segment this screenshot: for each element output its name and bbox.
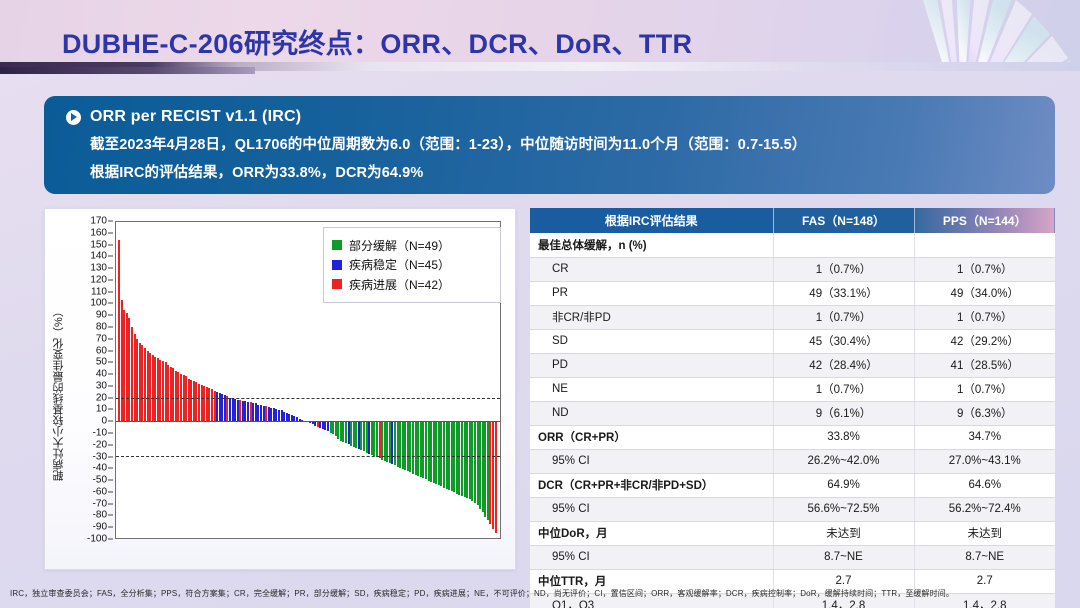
table-row: DCR（CR+PR+非CR/非PD+SD）64.9%64.6% — [530, 473, 1055, 497]
y-tick-mark — [108, 350, 113, 351]
chart-legend: 部分缓解（N=49）疾病稳定（N=45）疾病进展（N=42） — [323, 227, 501, 303]
y-tick-label: -20 — [93, 439, 107, 450]
legend-item-partial_response: 部分缓解（N=49） — [332, 237, 492, 254]
y-tick-label: 40 — [96, 369, 107, 380]
table-cell-label: SD — [530, 329, 773, 353]
table-cell-label: PR — [530, 281, 773, 305]
table-row: PR49（33.1%）49（34.0%） — [530, 281, 1055, 305]
y-tick-label: -40 — [93, 463, 107, 474]
table-cell-pps: 1（0.7%） — [914, 257, 1055, 281]
abbreviations-footnote: IRC，独立审查委员会；FAS，全分析集；PPS，符合方案集；CR，完全缓解；P… — [10, 588, 1072, 599]
y-tick-label: 80 — [96, 322, 107, 333]
table-cell-fas: 42（28.4%） — [773, 353, 914, 377]
y-tick-mark — [108, 221, 113, 222]
irc-results-table: 根据IRC评估结果 FAS（N=148） PPS（N=144） 最佳总体缓解，n… — [530, 208, 1055, 608]
y-tick-mark — [108, 256, 113, 257]
table-row: 95% CI56.6%~72.5%56.2%~72.4% — [530, 497, 1055, 521]
callout-heading: ORR per RECIST v1.1 (IRC) — [90, 108, 301, 126]
y-tick-label: 150 — [90, 239, 107, 250]
y-tick-label: 110 — [91, 286, 107, 297]
decorative-fan-burst-icon — [870, 0, 1080, 62]
y-tick-label: -30 — [93, 451, 107, 462]
y-tick-mark — [108, 480, 113, 481]
y-tick-label: -60 — [93, 486, 107, 497]
table-row: ORR（CR+PR）33.8%34.7% — [530, 425, 1055, 449]
chart-y-axis-ticks: 1701601501401301201101009080706050403020… — [71, 221, 113, 539]
y-tick-mark — [108, 244, 113, 245]
table-cell-label: 95% CI — [530, 497, 773, 521]
y-tick-mark — [108, 315, 113, 316]
y-tick-mark — [108, 385, 113, 386]
y-tick-mark — [108, 232, 113, 233]
y-tick-label: 130 — [90, 263, 107, 274]
table-cell-fas: 56.6%~72.5% — [773, 497, 914, 521]
banner-divider-accent — [0, 67, 255, 74]
table-cell-label: 95% CI — [530, 449, 773, 473]
legend-color-swatch — [332, 240, 342, 250]
y-tick-label: -70 — [93, 498, 107, 509]
legend-item-stable_disease: 疾病稳定（N=45） — [332, 256, 492, 273]
y-tick-mark — [108, 515, 113, 516]
legend-item-label: 疾病进展（N=42） — [349, 276, 450, 293]
table-cell-label: 95% CI — [530, 545, 773, 569]
table-header-fas: FAS（N=148） — [773, 208, 914, 233]
table-cell-fas: 45（30.4%） — [773, 329, 914, 353]
legend-color-swatch — [332, 279, 342, 289]
y-tick-mark — [108, 527, 113, 528]
y-tick-mark — [108, 503, 113, 504]
table-cell-pps: 49（34.0%） — [914, 281, 1055, 305]
reference-line-20 — [116, 398, 500, 399]
y-tick-mark — [108, 397, 113, 398]
legend-item-label: 疾病稳定（N=45） — [349, 256, 450, 273]
table-cell-label: 非CR/非PD — [530, 305, 773, 329]
table-row: 非CR/非PD1（0.7%）1（0.7%） — [530, 305, 1055, 329]
table-cell-fas — [773, 233, 914, 257]
table-cell-pps: 1（0.7%） — [914, 377, 1055, 401]
y-tick-mark — [108, 444, 113, 445]
y-tick-mark — [108, 303, 113, 304]
table-cell-label: ORR（CR+PR） — [530, 425, 773, 449]
y-tick-label: 20 — [96, 392, 107, 403]
y-tick-mark — [108, 291, 113, 292]
table-cell-fas: 33.8% — [773, 425, 914, 449]
table-cell-label: 中位DoR，月 — [530, 521, 773, 545]
callout-line-3: 根据IRC的评估结果，ORR为33.8%，DCR为64.9% — [90, 161, 1039, 182]
table-cell-fas: 26.2%~42.0% — [773, 449, 914, 473]
table-cell-pps: 41（28.5%） — [914, 353, 1055, 377]
y-tick-label: 160 — [90, 227, 107, 238]
y-tick-mark — [108, 279, 113, 280]
page-title: DUBHE-C-206研究终点：ORR、DCR、DoR、TTR — [62, 22, 692, 61]
y-tick-label: -50 — [93, 475, 107, 486]
y-tick-label: 0 — [101, 416, 107, 427]
y-tick-label: -80 — [93, 510, 107, 521]
y-tick-label: 10 — [96, 404, 107, 415]
y-tick-mark — [108, 421, 113, 422]
table-row: PD42（28.4%）41（28.5%） — [530, 353, 1055, 377]
y-tick-label: 50 — [96, 357, 107, 368]
y-tick-label: 70 — [96, 333, 107, 344]
table-cell-fas: 49（33.1%） — [773, 281, 914, 305]
table-cell-pps: 未达到 — [914, 521, 1055, 545]
y-tick-mark — [108, 468, 113, 469]
y-tick-label: 60 — [96, 345, 107, 356]
table-row: 95% CI8.7~NE8.7~NE — [530, 545, 1055, 569]
table-cell-pps: 64.6% — [914, 473, 1055, 497]
y-tick-label: -100 — [87, 534, 107, 545]
table-cell-fas: 9（6.1%） — [773, 401, 914, 425]
results-table-wrapper: 根据IRC评估结果 FAS（N=148） PPS（N=144） 最佳总体缓解，n… — [530, 208, 1055, 608]
reference-line--30 — [116, 456, 500, 457]
table-body: 最佳总体缓解，n (%)CR1（0.7%）1（0.7%）PR49（33.1%）4… — [530, 233, 1055, 608]
table-cell-fas: 64.9% — [773, 473, 914, 497]
table-cell-label: ND — [530, 401, 773, 425]
table-cell-fas: 1（0.7%） — [773, 305, 914, 329]
y-tick-mark — [108, 539, 113, 540]
y-tick-mark — [108, 327, 113, 328]
table-cell-pps: 34.7% — [914, 425, 1055, 449]
y-tick-mark — [108, 374, 113, 375]
legend-color-swatch — [332, 260, 342, 270]
callout-heading-row: ORR per RECIST v1.1 (IRC) — [66, 108, 1039, 126]
table-row: 最佳总体缓解，n (%) — [530, 233, 1055, 257]
y-tick-mark — [108, 456, 113, 457]
y-tick-label: 120 — [90, 274, 107, 285]
table-cell-pps: 42（29.2%） — [914, 329, 1055, 353]
table-cell-fas: 8.7~NE — [773, 545, 914, 569]
table-cell-fas: 1（0.7%） — [773, 377, 914, 401]
table-cell-pps: 56.2%~72.4% — [914, 497, 1055, 521]
y-tick-mark — [108, 268, 113, 269]
zero-baseline — [116, 421, 500, 422]
table-cell-label: PD — [530, 353, 773, 377]
table-cell-pps: 8.7~NE — [914, 545, 1055, 569]
y-tick-label: -10 — [93, 428, 107, 439]
table-cell-pps: 27.0%~43.1% — [914, 449, 1055, 473]
y-tick-mark — [108, 491, 113, 492]
y-tick-mark — [108, 409, 113, 410]
table-cell-label: NE — [530, 377, 773, 401]
table-row: SD45（30.4%）42（29.2%） — [530, 329, 1055, 353]
table-cell-pps: 9（6.3%） — [914, 401, 1055, 425]
table-row: NE1（0.7%）1（0.7%） — [530, 377, 1055, 401]
table-cell-label: DCR（CR+PR+非CR/非PD+SD） — [530, 473, 773, 497]
waterfall-chart-panel: 靶病灶大小较基线的最佳变化（%） 17016015014013012011010… — [44, 208, 516, 570]
y-tick-mark — [108, 433, 113, 434]
legend-item-progressive_disease: 疾病进展（N=42） — [332, 276, 492, 293]
y-tick-label: 170 — [90, 216, 107, 227]
table-cell-label: 最佳总体缓解，n (%) — [530, 233, 773, 257]
table-cell-pps — [914, 233, 1055, 257]
table-row: CR1（0.7%）1（0.7%） — [530, 257, 1055, 281]
y-tick-label: 30 — [96, 380, 107, 391]
callout-line-2: 截至2023年4月28日，QL1706的中位周期数为6.0（范围：1-23），中… — [90, 133, 1039, 154]
chart-y-axis-label: 靶病灶大小较基线的最佳变化（%） — [49, 269, 69, 519]
table-row: 95% CI26.2%~42.0%27.0%~43.1% — [530, 449, 1055, 473]
summary-callout-box: ORR per RECIST v1.1 (IRC) 截至2023年4月28日，Q… — [44, 96, 1055, 194]
y-tick-label: 100 — [90, 298, 107, 309]
table-header-criteria: 根据IRC评估结果 — [530, 208, 773, 233]
slide-header-banner: DUBHE-C-206研究终点：ORR、DCR、DoR、TTR — [0, 0, 1080, 62]
table-cell-fas: 1（0.7%） — [773, 257, 914, 281]
table-header-row: 根据IRC评估结果 FAS（N=148） PPS（N=144） — [530, 208, 1055, 233]
table-header-pps: PPS（N=144） — [914, 208, 1055, 233]
legend-item-label: 部分缓解（N=49） — [349, 237, 450, 254]
table-row: 中位DoR，月未达到未达到 — [530, 521, 1055, 545]
y-tick-label: 90 — [96, 310, 107, 321]
play-circle-icon — [66, 110, 81, 125]
y-tick-label: 140 — [90, 251, 107, 262]
table-cell-fas: 未达到 — [773, 521, 914, 545]
table-cell-label: CR — [530, 257, 773, 281]
y-tick-mark — [108, 338, 113, 339]
table-cell-pps: 1（0.7%） — [914, 305, 1055, 329]
bar-rect — [495, 421, 497, 533]
table-row: ND9（6.1%）9（6.3%） — [530, 401, 1055, 425]
y-tick-label: -90 — [93, 522, 107, 533]
y-tick-mark — [108, 362, 113, 363]
